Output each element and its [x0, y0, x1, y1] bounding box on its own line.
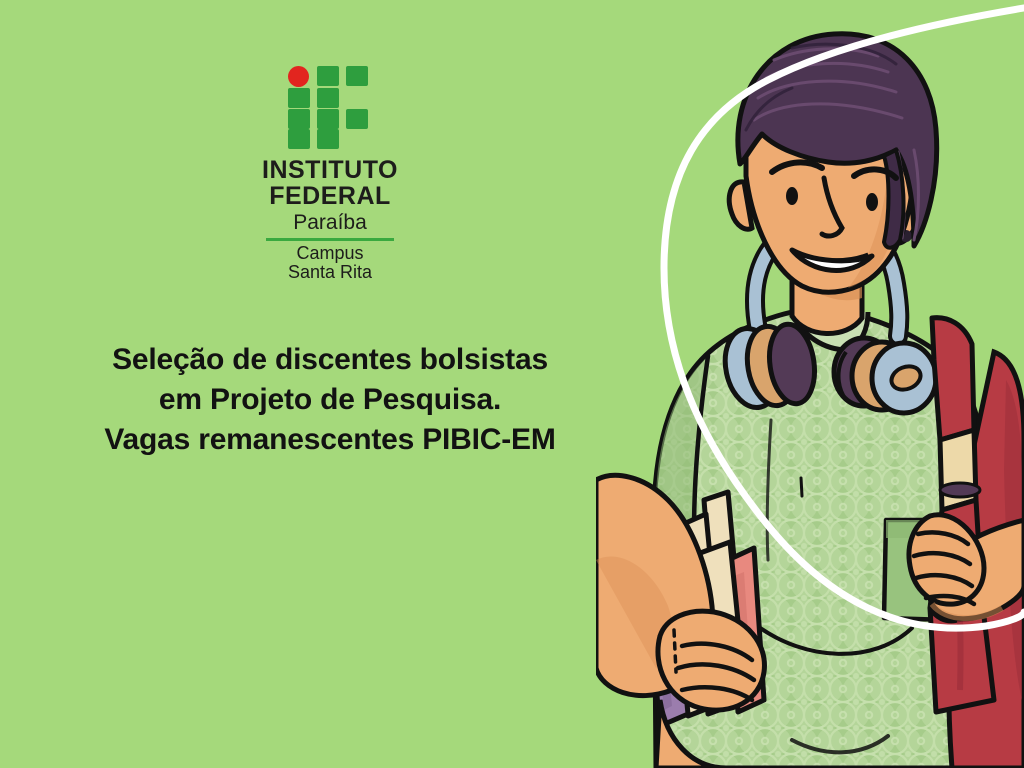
ifpb-logo: INSTITUTO FEDERAL Paraíba Campus Santa R…: [255, 66, 405, 282]
logo-divider: [266, 238, 394, 241]
logo-title-instituto: INSTITUTO: [255, 158, 405, 184]
headline-line-3: Vagas remanescentes PIBIC-EM: [20, 420, 640, 460]
headline-line-1: Seleção de discentes bolsistas: [20, 340, 640, 380]
logo-state-paraiba: Paraíba: [255, 211, 405, 234]
student-illustration: [596, 0, 1024, 768]
logo-cell-r3c2: [317, 109, 339, 129]
logo-cell-r4c2: [317, 129, 339, 149]
logo-cell-r3c1: [288, 109, 310, 129]
logo-campus-name: Santa Rita: [255, 263, 405, 282]
headline-text: Seleção de discentes bolsistas em Projet…: [20, 340, 640, 460]
poster-canvas: INSTITUTO FEDERAL Paraíba Campus Santa R…: [0, 0, 1024, 768]
logo-cell-r4c1: [288, 129, 310, 149]
logo-campus-label: Campus: [255, 244, 405, 263]
logo-cell-r2c1: [288, 88, 310, 108]
logo-red-dot-icon: [288, 66, 309, 87]
logo-cell-r1c2: [317, 66, 339, 86]
logo-cell-r1c3: [346, 66, 368, 86]
logo-cell-r3c3: [346, 109, 368, 129]
ifpb-logo-mark: [282, 66, 378, 148]
logo-cell-r2c2: [317, 88, 339, 108]
logo-title-federal: FEDERAL: [255, 184, 405, 210]
headline-line-2: em Projeto de Pesquisa.: [20, 380, 640, 420]
